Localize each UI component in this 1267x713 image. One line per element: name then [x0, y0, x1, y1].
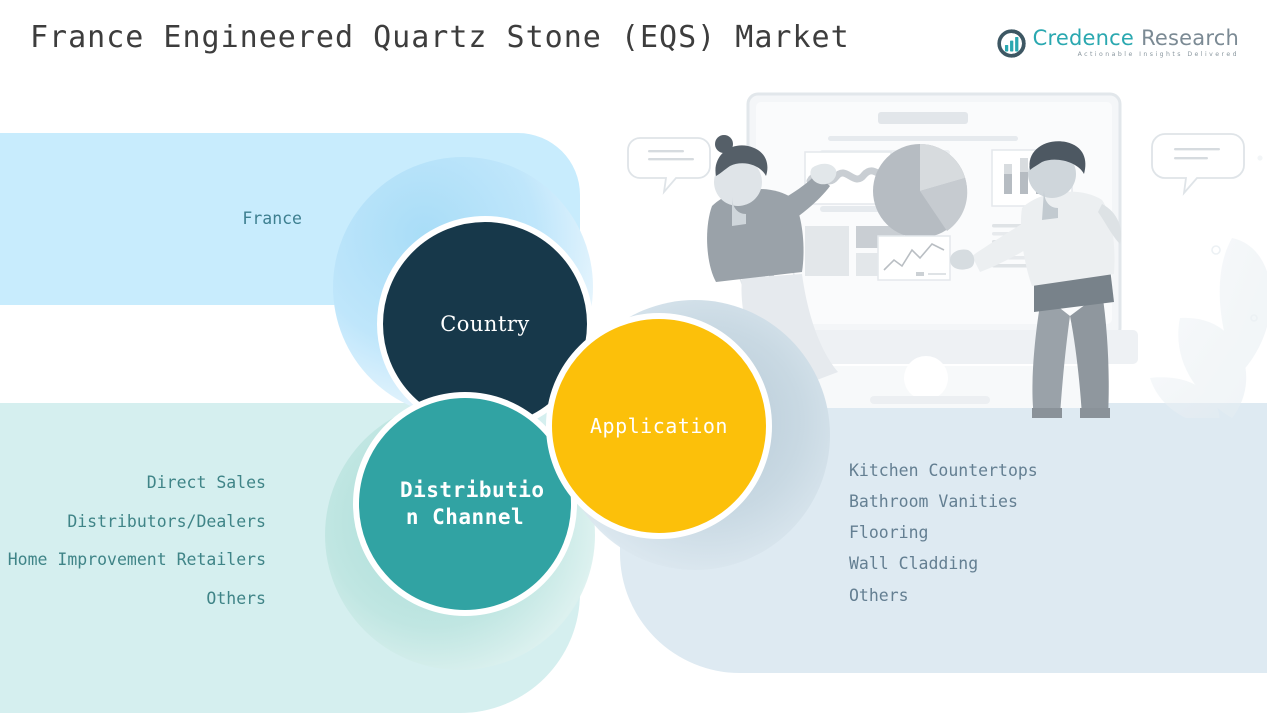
- distribution-channel-item-list: Direct Sales Distributors/Dealers Home I…: [0, 470, 266, 624]
- logo-tagline: Actionable Insights Delivered: [1033, 52, 1239, 58]
- pie-chart: [873, 144, 967, 238]
- bubble-distribution-line-2: n Channel: [406, 505, 524, 529]
- country-item-list: France: [0, 211, 302, 228]
- bubble-application-label: Application: [569, 414, 749, 438]
- list-item: Flooring: [849, 524, 1179, 542]
- speech-bubble-right: [1152, 134, 1244, 193]
- logo-primary-word: Credence: [1033, 28, 1134, 49]
- list-item: Direct Sales: [0, 470, 266, 496]
- list-item: France: [0, 211, 302, 228]
- logo-wordmark: Credence Research Actionable Insights De…: [1033, 28, 1239, 58]
- logo-secondary-word: Research: [1141, 28, 1239, 49]
- line-chart: [878, 236, 950, 280]
- credence-bar-chart-circle-logo: [997, 29, 1026, 58]
- list-item: Wall Cladding: [849, 555, 1179, 573]
- list-item: Home Improvement Retailers: [0, 547, 266, 573]
- speech-bubble-left: [628, 138, 710, 192]
- list-item: Others: [0, 586, 266, 612]
- logo-words: Credence Research: [1033, 28, 1239, 49]
- bubble-distribution-line-1: Distributio: [400, 478, 545, 502]
- list-item: Others: [849, 587, 1179, 605]
- list-item: Bathroom Vanities: [849, 493, 1179, 511]
- credence-research-logo: Credence Research Actionable Insights De…: [997, 28, 1239, 58]
- slide-canvas: France Engineered Quartz Stone (EQS) Mar…: [0, 0, 1267, 713]
- bubble-country-label: Country: [395, 312, 575, 336]
- list-item: Kitchen Countertops: [849, 462, 1179, 480]
- bubble-application[interactable]: Application: [546, 313, 772, 539]
- application-item-list: Kitchen Countertops Bathroom Vanities Fl…: [849, 462, 1179, 618]
- bubble-distribution-channel[interactable]: Distributio n Channel: [353, 392, 577, 616]
- page-title: France Engineered Quartz Stone (EQS) Mar…: [30, 20, 850, 55]
- bubble-distribution-channel-label: Distributio n Channel: [400, 477, 530, 531]
- list-item: Distributors/Dealers: [0, 509, 266, 535]
